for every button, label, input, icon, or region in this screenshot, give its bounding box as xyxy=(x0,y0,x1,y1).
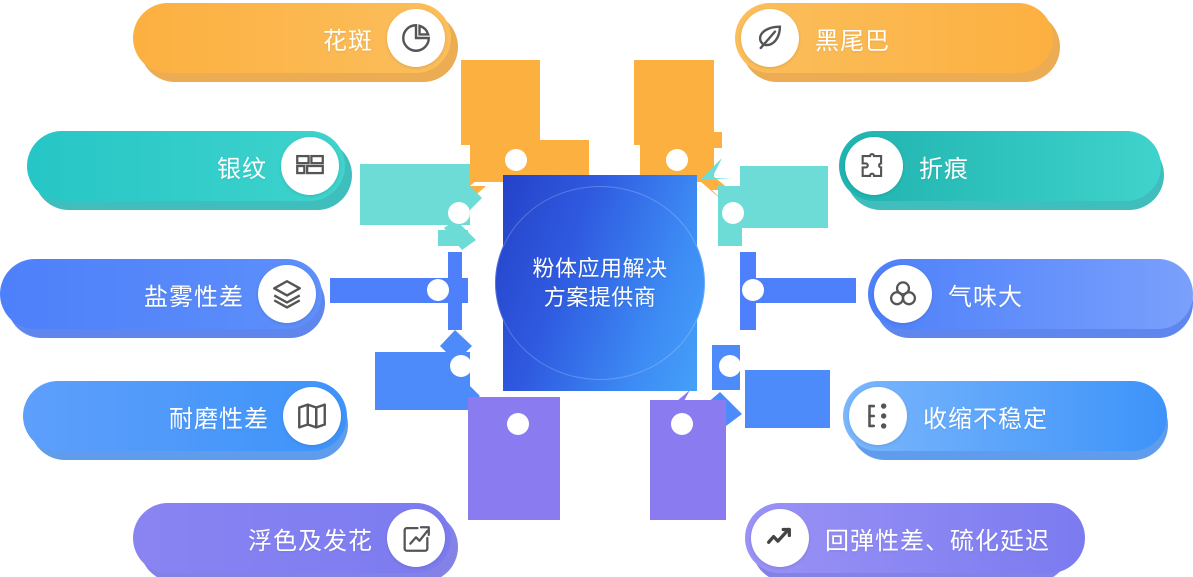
brick-wall-icon xyxy=(281,137,339,195)
node-label-hui-tan-xing-cha: 回弹性差、硫化延迟 xyxy=(825,521,1050,556)
connector-right-row3 xyxy=(740,252,856,330)
trending-up-box-icon xyxy=(387,509,445,567)
node-yan-wu-xing-cha[interactable]: 盐雾性差 xyxy=(0,259,322,329)
node-nai-mo-xing-cha[interactable]: 耐磨性差 xyxy=(23,381,347,451)
node-zhe-hen[interactable]: 折痕 xyxy=(839,131,1161,201)
node-label-yin-wen: 银纹 xyxy=(217,149,267,184)
node-fu-se-ji-fa-hua[interactable]: 浮色及发花 xyxy=(133,503,451,573)
connector-right-row2 xyxy=(700,158,828,246)
node-hei-wei-ba[interactable]: 黑尾巴 xyxy=(735,3,1053,73)
line-chart-icon xyxy=(751,509,809,567)
node-label-nai-mo-xing-cha: 耐磨性差 xyxy=(169,399,269,434)
map-icon xyxy=(283,387,341,445)
node-label-fu-se-ji-fa-hua: 浮色及发花 xyxy=(248,521,373,556)
diagram-canvas: 粉体应用解决 方案提供商 花斑 黑尾巴 银纹 xyxy=(0,0,1193,577)
node-hui-tan-xing-cha[interactable]: 回弹性差、硫化延迟 xyxy=(745,503,1085,573)
node-label-zhe-hen: 折痕 xyxy=(919,149,969,184)
connector-left-row5 xyxy=(468,397,560,520)
node-yin-wen[interactable]: 银纹 xyxy=(27,131,345,201)
center-title: 粉体应用解决 方案提供商 xyxy=(532,254,667,313)
node-label-yan-wu-xing-cha: 盐雾性差 xyxy=(144,277,244,312)
node-label-hei-wei-ba: 黑尾巴 xyxy=(815,21,890,56)
connector-left-row3 xyxy=(330,252,468,330)
center-node: 粉体应用解决 方案提供商 xyxy=(503,175,697,391)
recycle-circles-icon xyxy=(874,265,932,323)
node-hua-ban[interactable]: 花斑 xyxy=(133,3,451,73)
node-label-qi-wei-da: 气味大 xyxy=(948,277,1023,312)
connector-right-row5 xyxy=(650,390,726,520)
leaf-icon xyxy=(741,9,799,67)
connector-left-row4 xyxy=(375,330,480,410)
connector-left-row2 xyxy=(360,164,482,250)
sitemap-icon xyxy=(849,387,907,445)
node-qi-wei-da[interactable]: 气味大 xyxy=(868,259,1193,329)
puzzle-piece-icon xyxy=(845,137,903,195)
node-label-hua-ban: 花斑 xyxy=(323,21,373,56)
node-shou-suo-bu-wen-ding[interactable]: 收缩不稳定 xyxy=(843,381,1167,451)
pie-chart-icon xyxy=(387,9,445,67)
layers-icon xyxy=(258,265,316,323)
node-label-shou-suo-bu-wen-ding: 收缩不稳定 xyxy=(923,399,1048,434)
